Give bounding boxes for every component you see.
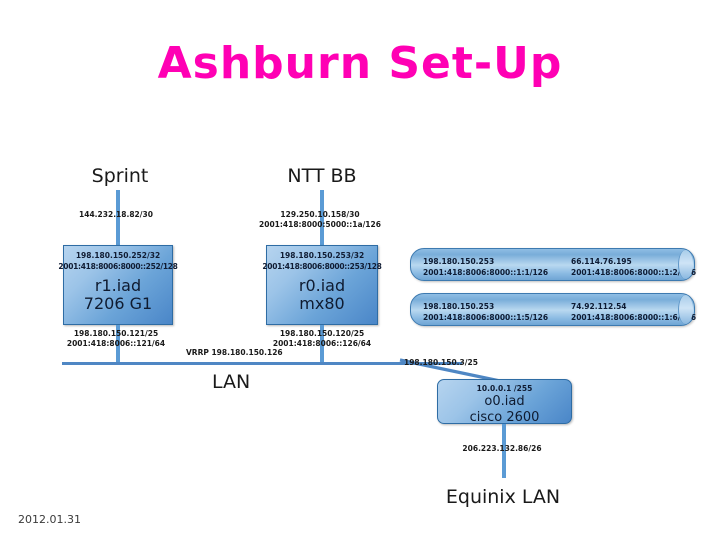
router-r0-ipv4: 198.180.150.253/32 — [267, 246, 377, 262]
peering-pill-2[interactable]: 198.180.150.253 2001:418:8006:8000::1:5/… — [410, 293, 695, 326]
router-r1-model: 7206 G1 — [64, 295, 172, 313]
link-label-r1-downlink-v6: 2001:418:8006::121/64 — [56, 339, 176, 349]
endpoint-label-ntt: NTT BB — [262, 165, 382, 187]
peering-1-local-v4: 198.180.150.253 — [423, 257, 548, 268]
router-r1-ipv6: 2001:418:8006:8000::252/128 — [56, 262, 180, 273]
link-label-o0-downlink: 206.223.132.86/26 — [442, 444, 562, 454]
endpoint-label-lan: LAN — [212, 371, 250, 393]
page-title: Ashburn Set-Up — [0, 38, 720, 89]
link-label-sprint-uplink: 144.232.18.82/30 — [56, 210, 176, 220]
router-r0-name: r0.iad — [267, 277, 377, 295]
link-label-ntt-uplink-v4: 129.250.10.158/30 — [260, 210, 380, 220]
router-box-r1[interactable]: 198.180.150.252/32 2001:418:8006:8000::2… — [63, 245, 173, 325]
link-label-r0-downlink-v4: 198.180.150.120/25 — [262, 329, 382, 339]
datestamp: 2012.01.31 — [18, 513, 81, 526]
lan-bus-line — [62, 362, 462, 365]
peering-2-local-v6: 2001:418:8006:8000::1:5/126 — [423, 313, 548, 324]
pill-end-cap — [678, 250, 693, 279]
peering-1-local-v6: 2001:418:8006:8000::1:1/126 — [423, 268, 548, 279]
link-label-lan-to-o0: 198.180.150.3/25 — [404, 358, 494, 368]
peering-pill-1[interactable]: 198.180.150.253 2001:418:8006:8000::1:1/… — [410, 248, 695, 281]
slide-canvas: Ashburn Set-Up Sprint 144.232.18.82/30 1… — [0, 0, 720, 540]
link-label-vrrp: VRRP 198.180.150.126 — [186, 348, 283, 357]
peering-2-local-v4: 198.180.150.253 — [423, 302, 548, 313]
router-box-o0[interactable]: 10.0.0.1 /255 o0.iad cisco 2600 — [437, 379, 572, 424]
router-r0-model: mx80 — [267, 295, 377, 313]
router-o0-name: o0.iad — [438, 394, 571, 410]
router-box-r0[interactable]: 198.180.150.253/32 2001:418:8006:8000::2… — [266, 245, 378, 325]
endpoint-label-equinix-lan: Equinix LAN — [440, 486, 566, 508]
pill-end-cap — [678, 295, 693, 324]
router-r0-ipv6: 2001:418:8006:8000::253/128 — [259, 262, 385, 273]
peering-2-remote-v6: 2001:418:8006:8000::1:6/126 — [571, 313, 696, 324]
peering-1-remote-v6: 2001:418:8006:8000::1:2/126 — [571, 268, 696, 279]
link-label-ntt-uplink-v6: 2001:418:8000:5000::1a/126 — [255, 220, 385, 230]
router-r1-ipv4: 198.180.150.252/32 — [64, 246, 172, 262]
router-o0-ip: 10.0.0.1 /255 — [438, 380, 571, 393]
endpoint-label-sprint: Sprint — [60, 165, 180, 187]
link-label-r1-downlink-v4: 198.180.150.121/25 — [56, 329, 176, 339]
router-r1-name: r1.iad — [64, 277, 172, 295]
